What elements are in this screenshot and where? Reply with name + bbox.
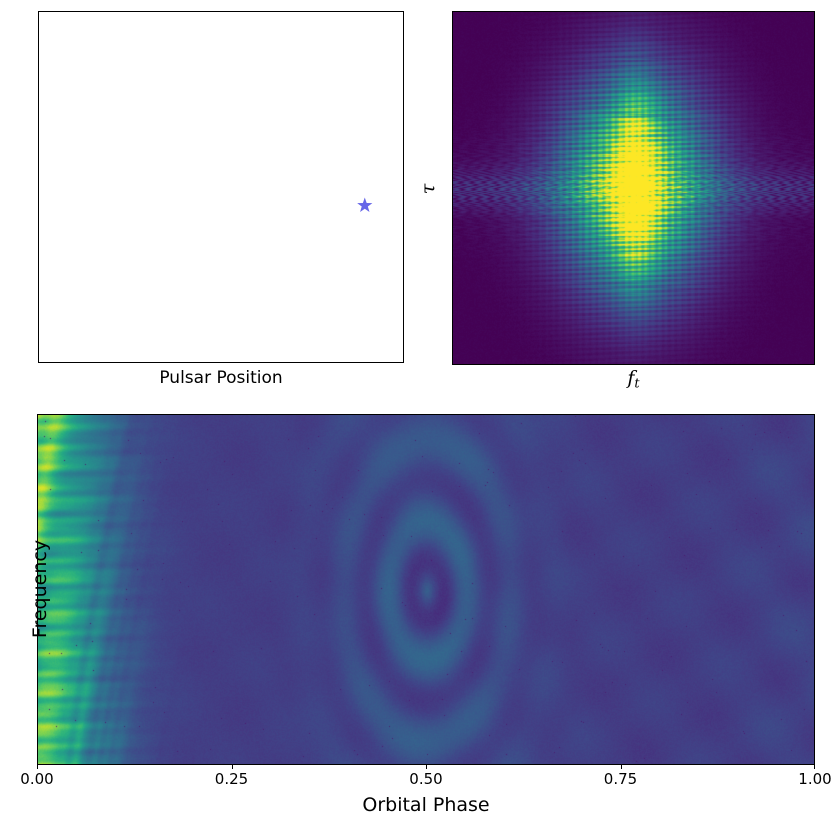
secondary-spectrum-ylabel: τ bbox=[417, 169, 439, 209]
dynamic-spectrum-image bbox=[38, 415, 815, 765]
secondary-spectrum-xlabel: ft bbox=[452, 367, 815, 396]
x-tick-mark bbox=[426, 765, 427, 769]
x-tick-label: 0.00 bbox=[20, 770, 53, 788]
x-tick-label: 0.25 bbox=[215, 770, 248, 788]
x-tick-mark bbox=[37, 765, 38, 769]
ft-subscript: t bbox=[634, 377, 639, 392]
x-tick-label: 1.00 bbox=[798, 770, 831, 788]
secondary-spectrum-axes bbox=[452, 11, 815, 365]
x-tick-mark bbox=[232, 765, 233, 769]
dynamic-spectrum-xlabel: Orbital Phase bbox=[37, 793, 815, 817]
pulsar-position-axes bbox=[38, 11, 404, 363]
figure-canvas: Pulsar Position ft τ 0.000.250.500.751.0… bbox=[0, 0, 838, 830]
x-tick-label: 0.75 bbox=[604, 770, 637, 788]
dynamic-spectrum-ylabel: Frequency bbox=[29, 529, 51, 649]
dynamic-spectrum-axes bbox=[37, 414, 815, 765]
x-tick-label: 0.50 bbox=[409, 770, 442, 788]
dynamic-spectrum-xaxis: 0.000.250.500.751.00 bbox=[37, 765, 815, 791]
x-tick-mark bbox=[814, 765, 815, 769]
pulsar-star-marker bbox=[39, 12, 403, 362]
x-tick-mark bbox=[621, 765, 622, 769]
pulsar-position-xlabel: Pulsar Position bbox=[38, 368, 404, 388]
secondary-spectrum-image bbox=[453, 12, 815, 365]
